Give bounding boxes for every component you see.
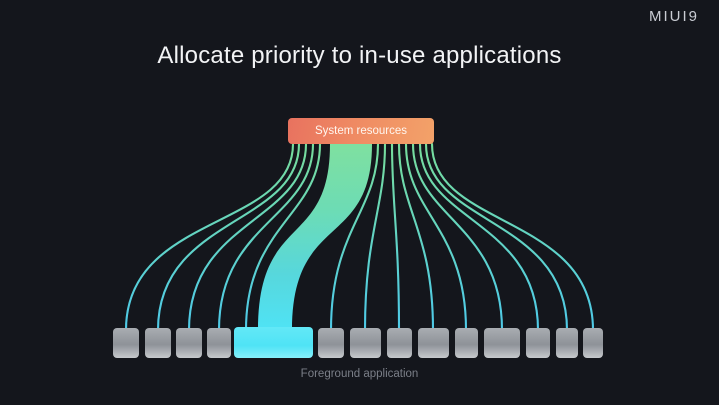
app-box[interactable] — [556, 328, 578, 358]
app-box[interactable] — [207, 328, 231, 358]
app-box[interactable] — [418, 328, 449, 358]
app-box[interactable] — [176, 328, 202, 358]
app-box-foreground[interactable] — [234, 327, 313, 358]
app-box[interactable] — [583, 328, 603, 358]
app-box[interactable] — [484, 328, 520, 358]
slide-canvas: MIUI9 Allocate priority to in-use applic… — [0, 0, 719, 405]
app-box[interactable] — [113, 328, 139, 358]
app-box[interactable] — [350, 328, 381, 358]
app-box[interactable] — [455, 328, 478, 358]
system-resources-badge: System resources — [288, 118, 434, 144]
app-box[interactable] — [145, 328, 171, 358]
app-box[interactable] — [526, 328, 550, 358]
app-box[interactable] — [387, 328, 412, 358]
app-box[interactable] — [318, 328, 344, 358]
application-row — [0, 0, 719, 405]
